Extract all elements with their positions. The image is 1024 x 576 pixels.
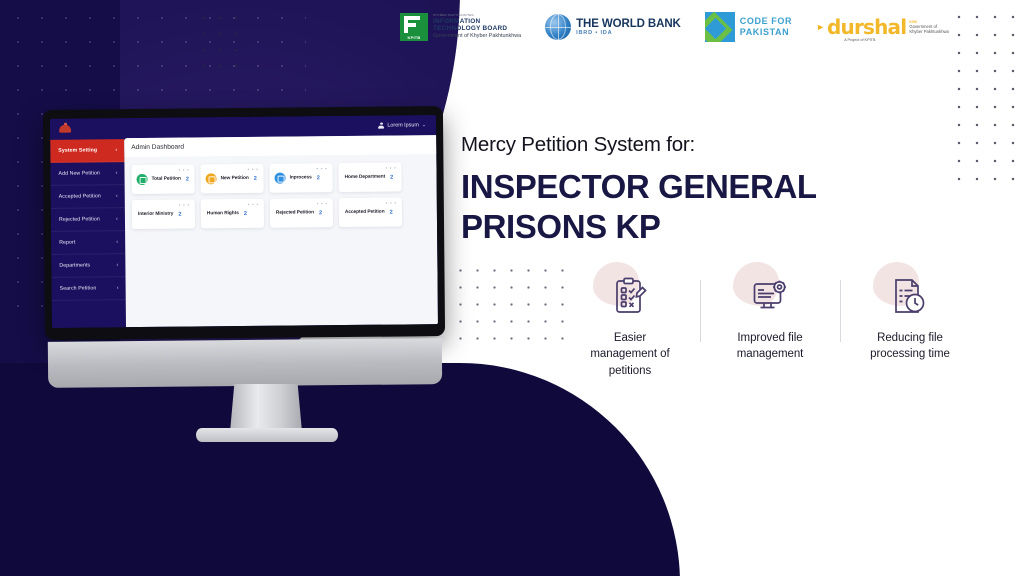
total-petition-icon xyxy=(137,174,148,185)
feature-item: Reducing fileprocessing time xyxy=(840,268,980,383)
more-options-icon[interactable]: • • • xyxy=(248,203,259,208)
feature-list: Easiermanagement ofpetitions Improved fi… xyxy=(560,268,980,383)
stat-card-value: 2 xyxy=(178,211,181,217)
feature-label: Improved filemanagement xyxy=(737,330,804,363)
sidebar-item-label: System Setting xyxy=(58,147,97,153)
dot-grid-upper-icon xyxy=(196,10,242,72)
sidebar-item-search-petition[interactable]: Search Petition ‹ xyxy=(52,277,126,301)
stat-card-rejected-petition[interactable]: • • • Rejected Petition 2 xyxy=(270,198,333,228)
code-for-pakistan-logo: CODE FOR PAKISTAN xyxy=(705,12,792,42)
sidebar-item-label: Accepted Petition xyxy=(59,193,101,199)
sidebar-item-label: Rejected Petition xyxy=(59,216,100,222)
monitor-chin xyxy=(48,338,442,388)
chevron-left-icon: ‹ xyxy=(116,170,118,176)
stat-card-interior-ministry[interactable]: • • • Interior Ministry 2 xyxy=(132,199,195,229)
chevron-left-icon: ‹ xyxy=(116,262,118,268)
world-bank-logo: THE WORLD BANK IBRD • IDA xyxy=(545,14,681,40)
poster-canvas: KPITB KHYBER PAKHTUNKHWA INFORMATION TEC… xyxy=(0,0,1024,576)
monitor-stand-base xyxy=(196,428,338,442)
monitor-bezel: Lorem Ipsum ⌄ System Setting ‹ Add New P… xyxy=(43,106,445,340)
more-options-icon[interactable]: • • • xyxy=(385,167,396,172)
more-options-icon[interactable]: • • • xyxy=(247,168,258,173)
stat-card-inprocess[interactable]: • • • Inprocess 2 xyxy=(269,163,332,193)
stat-card-value: 2 xyxy=(186,176,189,182)
more-options-icon[interactable]: • • • xyxy=(386,202,397,207)
stat-card-label: Home Department xyxy=(345,175,386,180)
stat-card-label: Total Petition xyxy=(152,177,181,182)
kpitb-line2-text: TECHNOLOGY BOARD xyxy=(433,25,521,33)
world-bank-name-text: THE WORLD BANK xyxy=(576,18,681,30)
user-icon xyxy=(378,122,384,129)
feature-item: Easiermanagement ofpetitions xyxy=(560,268,700,383)
monitor-screen: Lorem Ipsum ⌄ System Setting ‹ Add New P… xyxy=(50,115,438,328)
app-body: System Setting ‹ Add New Petition ‹ Acce… xyxy=(50,135,438,328)
stat-card-grid: • • • Total Petition 2 • • • New Petitio… xyxy=(124,154,438,327)
stat-card-accepted-petition[interactable]: • • • Accepted Petition 2 xyxy=(339,197,402,227)
kpitb-line1-text: INFORMATION xyxy=(433,18,521,26)
stat-card-new-petition[interactable]: • • • New Petition 2 xyxy=(200,164,263,194)
stat-card-value: 2 xyxy=(319,210,322,216)
stat-card-human-rights[interactable]: • • • Human Rights 2 xyxy=(201,199,264,229)
clipboard-checklist-icon xyxy=(601,268,659,326)
partner-logos-strip: KPITB KHYBER PAKHTUNKHWA INFORMATION TEC… xyxy=(400,6,945,48)
sidebar: System Setting ‹ Add New Petition ‹ Acce… xyxy=(50,138,126,328)
stat-card-value: 2 xyxy=(254,175,257,181)
headline-title-line2: PRISONS KP xyxy=(461,207,931,247)
monitor-gear-icon xyxy=(741,268,799,326)
chevron-left-icon: ‹ xyxy=(115,147,117,153)
stat-card-label: New Petition xyxy=(221,176,249,181)
code-for-pakistan-mark-icon xyxy=(705,12,735,42)
durshal-logo: ► durshal KGB Government of Khyber Pakht… xyxy=(816,17,949,37)
stat-card-label: Interior Ministry xyxy=(138,212,173,217)
durshal-mark-icon: ► xyxy=(816,23,825,32)
stat-card-home-department[interactable]: • • • Home Department 2 xyxy=(338,162,401,192)
stat-card-value: 2 xyxy=(390,209,393,215)
dot-grid-top-right-icon xyxy=(950,8,1024,193)
content-area: Admin Dashboard • • • Total Petition 2 • xyxy=(124,135,438,327)
chevron-down-icon: ⌄ xyxy=(422,122,426,128)
more-options-icon[interactable]: • • • xyxy=(178,169,189,174)
kpitb-logo: KPITB KHYBER PAKHTUNKHWA INFORMATION TEC… xyxy=(400,13,521,41)
user-name: Lorem Ipsum xyxy=(387,122,419,128)
document-clock-icon xyxy=(881,268,939,326)
stat-card-label: Inprocess xyxy=(290,175,312,180)
headline-title-line1: INSPECTOR GENERAL xyxy=(461,167,931,207)
chevron-left-icon: ‹ xyxy=(116,239,118,245)
stat-card-total-petition[interactable]: • • • Total Petition 2 xyxy=(131,164,194,194)
sidebar-item-label: Add New Petition xyxy=(58,170,99,176)
more-options-icon[interactable]: • • • xyxy=(317,202,328,207)
more-options-icon[interactable]: • • • xyxy=(316,167,327,172)
stat-card-label: Accepted Petition xyxy=(345,210,385,215)
chevron-left-icon: ‹ xyxy=(117,285,119,291)
chevron-left-icon: ‹ xyxy=(116,193,118,199)
kpitb-line3-text: Government of Khyber Pakhtunkhwa xyxy=(433,33,521,40)
cfp-line2-text: PAKISTAN xyxy=(740,27,792,38)
shield-logo-icon xyxy=(58,123,72,135)
feature-label: Easiermanagement ofpetitions xyxy=(590,330,669,379)
sidebar-item-label: Departments xyxy=(59,262,90,268)
background-shape-bottom-left xyxy=(0,363,680,576)
durshal-sub-text: A Project of KPITB xyxy=(844,38,875,43)
inprocess-icon xyxy=(275,173,286,184)
world-bank-sub-text: IBRD • IDA xyxy=(576,30,681,37)
monitor-stand-neck xyxy=(230,384,302,432)
globe-icon xyxy=(545,14,571,40)
new-petition-icon xyxy=(206,173,217,184)
stat-card-value: 2 xyxy=(244,210,247,216)
monitor-mockup: Lorem Ipsum ⌄ System Setting ‹ Add New P… xyxy=(44,108,444,338)
stat-card-label: Human Rights xyxy=(207,211,239,216)
sidebar-item-rejected-petition[interactable]: Rejected Petition ‹ xyxy=(51,208,125,232)
durshal-word-text: durshal xyxy=(827,17,906,37)
sidebar-item-accepted-petition[interactable]: Accepted Petition ‹ xyxy=(51,185,125,209)
stat-card-value: 2 xyxy=(390,174,393,180)
chevron-left-icon: ‹ xyxy=(116,216,118,222)
headline-kicker: Mercy Petition System for: xyxy=(461,133,931,158)
feature-label: Reducing fileprocessing time xyxy=(870,330,950,363)
stat-card-label: Rejected Petition xyxy=(276,210,314,215)
durshal-side2-text: Khyber Pakhtunkhwa xyxy=(909,29,949,34)
kpitb-mark-icon: KPITB xyxy=(400,13,428,41)
admin-app: Lorem Ipsum ⌄ System Setting ‹ Add New P… xyxy=(50,115,438,328)
sidebar-item-system-setting[interactable]: System Setting ‹ xyxy=(50,139,124,163)
sidebar-item-report[interactable]: Report ‹ xyxy=(51,231,125,255)
sidebar-item-label: Report xyxy=(59,240,75,246)
more-options-icon[interactable]: • • • xyxy=(179,204,190,209)
user-menu[interactable]: Lorem Ipsum ⌄ xyxy=(378,122,426,129)
stat-card-value: 2 xyxy=(317,175,320,181)
headline-block: Mercy Petition System for: INSPECTOR GEN… xyxy=(461,133,931,247)
feature-item: Improved filemanagement xyxy=(700,268,840,383)
sidebar-item-add-new-petition[interactable]: Add New Petition ‹ xyxy=(50,162,124,186)
sidebar-item-departments[interactable]: Departments ‹ xyxy=(51,254,125,278)
kpitb-mark-label: KPITB xyxy=(408,35,421,41)
sidebar-item-label: Search Petition xyxy=(60,285,97,291)
cfp-line1-text: CODE FOR xyxy=(740,16,792,27)
